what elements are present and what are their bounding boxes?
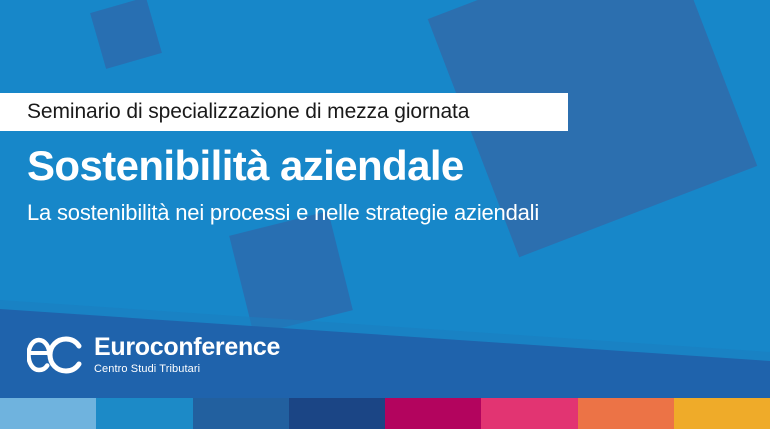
kicker-badge: Seminario di specializzazione di mezza g… bbox=[0, 93, 568, 131]
banner-content: Seminario di specializzazione di mezza g… bbox=[0, 0, 770, 429]
color-strip bbox=[0, 398, 770, 429]
euroconference-logo: Euroconference Centro Studi Tributari bbox=[27, 333, 280, 377]
color-segment-medium-blue bbox=[193, 398, 289, 429]
color-segment-pink bbox=[481, 398, 577, 429]
color-segment-magenta bbox=[385, 398, 481, 429]
color-segment-light-blue bbox=[0, 398, 96, 429]
logo-name: Euroconference bbox=[94, 334, 280, 360]
color-segment-azure bbox=[96, 398, 192, 429]
color-segment-navy bbox=[289, 398, 385, 429]
banner-subtitle: La sostenibilità nei processi e nelle st… bbox=[27, 200, 539, 226]
color-segment-orange bbox=[578, 398, 674, 429]
seminar-banner: Seminario di specializzazione di mezza g… bbox=[0, 0, 770, 429]
color-segment-amber bbox=[674, 398, 770, 429]
ec-monogram-icon bbox=[27, 333, 85, 377]
logo-wordmark: Euroconference Centro Studi Tributari bbox=[94, 334, 280, 375]
kicker-label: Seminario di specializzazione di mezza g… bbox=[27, 100, 469, 124]
banner-title: Sostenibilità aziendale bbox=[27, 142, 464, 190]
logo-tagline: Centro Studi Tributari bbox=[94, 363, 280, 376]
